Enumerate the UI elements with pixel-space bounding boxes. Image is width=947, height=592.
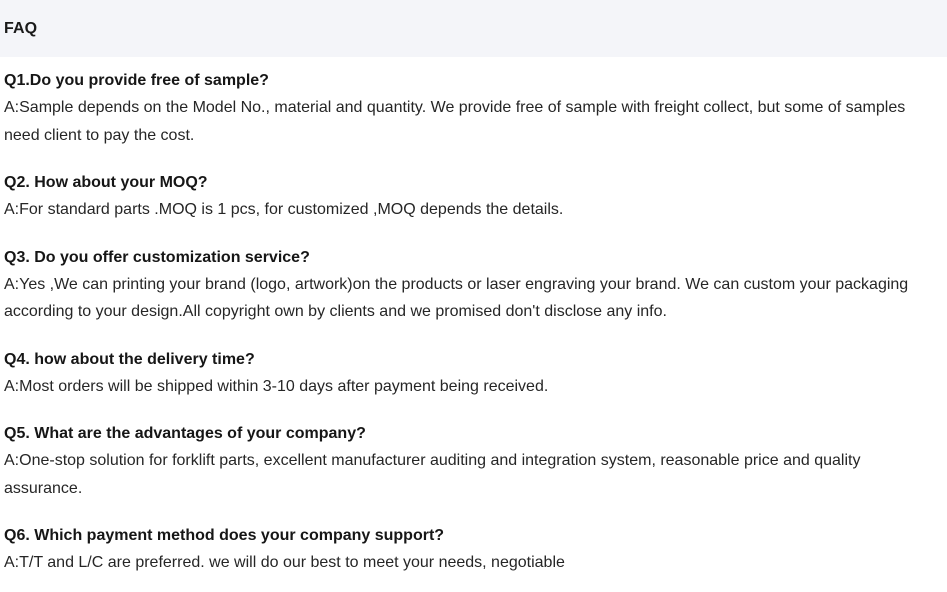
faq-answer: A:Most orders will be shipped within 3-1… [4,373,939,401]
faq-answer: A:Sample depends on the Model No., mater… [4,94,939,149]
faq-answer: A:For standard parts .MOQ is 1 pcs, for … [4,196,939,224]
faq-item: Q4. how about the delivery time? A:Most … [4,346,943,401]
faq-item: Q3. Do you offer customization service? … [4,244,943,326]
faq-answer: A:Yes ,We can printing your brand (logo,… [4,271,939,326]
faq-item: Q5. What are the advantages of your comp… [4,420,943,502]
faq-question: Q3. Do you offer customization service? [4,244,943,271]
faq-question: Q5. What are the advantages of your comp… [4,420,943,447]
faq-header-title: FAQ [4,20,37,38]
faq-item: Q6. Which payment method does your compa… [4,522,943,577]
faq-question: Q2. How about your MOQ? [4,169,943,196]
faq-item: Q1.Do you provide free of sample? A:Samp… [4,67,943,149]
faq-list: Q1.Do you provide free of sample? A:Samp… [0,67,947,577]
faq-question: Q6. Which payment method does your compa… [4,522,943,549]
faq-question: Q4. how about the delivery time? [4,346,943,373]
faq-question: Q1.Do you provide free of sample? [4,67,943,94]
faq-answer: A:T/T and L/C are preferred. we will do … [4,549,939,577]
faq-header-band: FAQ [0,0,947,57]
faq-answer: A:One-stop solution for forklift parts, … [4,447,939,502]
faq-item: Q2. How about your MOQ? A:For standard p… [4,169,943,224]
